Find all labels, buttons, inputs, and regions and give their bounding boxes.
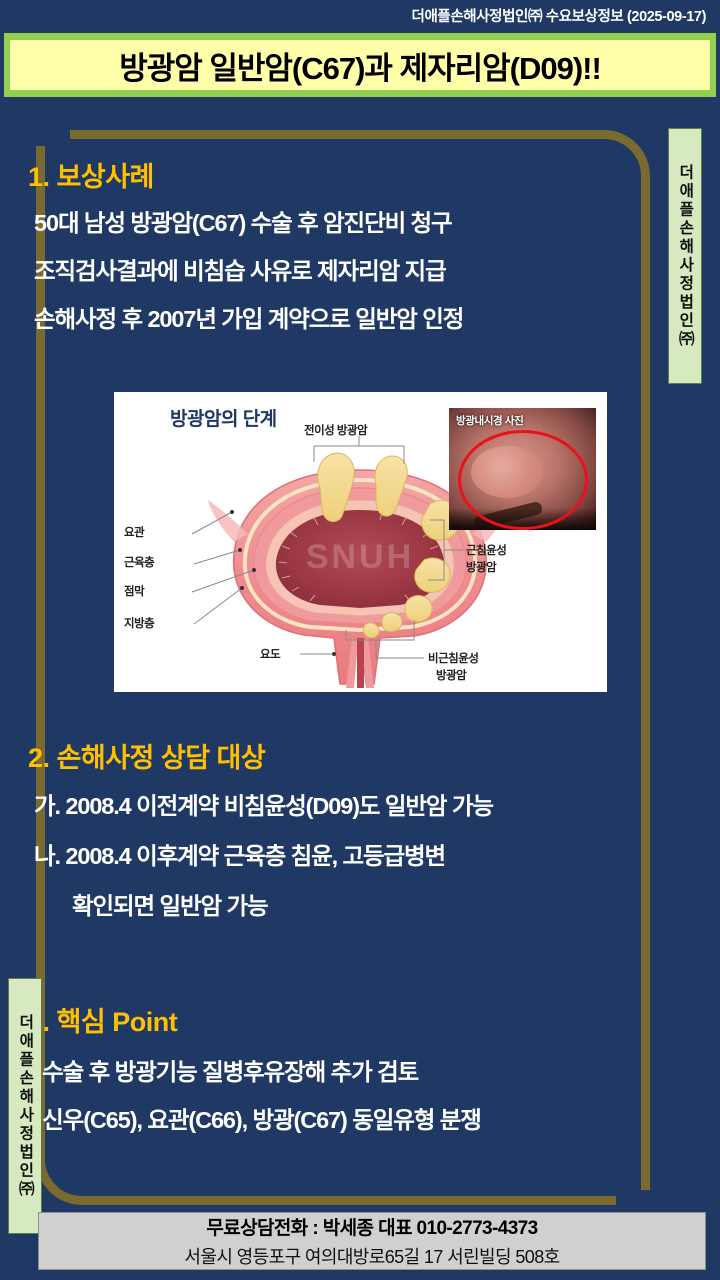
section-3-line-1: - 수술 후 방광기능 질병후유장해 추가 검토 [30, 1053, 720, 1087]
section-1-line-1: 50대 남성 방광암(C67) 수술 후 암진단비 청구 [34, 204, 660, 238]
section-1-line-3: 손해사정 후 2007년 가입 계약으로 일반암 인정 [34, 300, 660, 334]
frame-mask-bottom [616, 1190, 660, 1214]
side-tag-right-text: 더애플손해사정법인㈜ [677, 164, 693, 349]
footer-phone-line: 무료상담전화 : 박세종 대표 010-2773-4373 [206, 1213, 537, 1240]
figure-label-non-muscle-invasive-line1: 비근침윤성 [428, 650, 478, 666]
section-consultation-targets: 2. 손해사정 상담 대상 가. 2008.4 이전계약 비침윤성(D09)도 … [20, 736, 710, 937]
section-2-line-3: 확인되면 일반암 가능 [72, 887, 710, 921]
figure-label-fat-layer: 지방층 [124, 615, 154, 631]
cystoscopy-inset-label: 방광내시경 사진 [456, 413, 523, 428]
section-2-line-1: 가. 2008.4 이전계약 비침윤성(D09)도 일반암 가능 [34, 787, 710, 821]
contact-footer: 무료상담전화 : 박세종 대표 010-2773-4373 서울시 영등포구 여… [38, 1212, 706, 1270]
figure-label-ureter: 요관 [124, 524, 144, 540]
frame-mask-top [30, 124, 70, 146]
figure-label-metastatic: 전이성 방광암 [304, 422, 367, 438]
figure-label-muscle-invasive-line2: 방광암 [466, 559, 496, 575]
figure-label-muscle-invasive-line1: 근침윤성 [466, 542, 506, 558]
title-banner: 방광암 일반암(C67)과 제자리암(D09)!! [4, 33, 716, 97]
header-bar: 더애플손해사정법인㈜ 수요보상정보 (2025-09-17) [0, 0, 720, 30]
side-tag-right: 더애플손해사정법인㈜ [668, 128, 702, 384]
figure-label-urethra: 요도 [260, 646, 280, 662]
cystoscopy-inset-photo: 방광내시경 사진 [449, 408, 596, 530]
section-2-line-2: 나. 2008.4 이후계약 근육층 침윤, 고등급병변 [34, 837, 710, 871]
section-3-line-2: - 신우(C65), 요관(C66), 방광(C67) 동일유형 분쟁 [30, 1101, 720, 1135]
figure-label-non-muscle-invasive-line2: 방광암 [436, 667, 466, 683]
section-key-point: 3. 핵심 Point - 수술 후 방광기능 질병후유장해 추가 검토 - 신… [20, 1000, 720, 1149]
header-brand-text: 더애플손해사정법인㈜ 수요보상정보 (2025-09-17) [412, 5, 706, 26]
figure-label-mucosa: 점막 [124, 583, 144, 599]
side-tag-left-text: 더애플손해사정법인㈜ [17, 1014, 33, 1199]
figure-label-muscle-layer: 근육층 [124, 554, 154, 570]
page-title: 방광암 일반암(C67)과 제자리암(D09)!! [119, 43, 601, 88]
poster-root: 더애플손해사정법인㈜ 수요보상정보 (2025-09-17) 방광암 일반암(C… [0, 0, 720, 1280]
cystoscopy-highlight-ring [458, 430, 588, 530]
section-compensation-case: 1. 보상사례 50대 남성 방광암(C67) 수술 후 암진단비 청구 조직검… [20, 155, 660, 348]
section-3-heading: 3. 핵심 Point [28, 1000, 720, 1039]
section-2-heading: 2. 손해사정 상담 대상 [28, 736, 710, 775]
side-tag-left: 더애플손해사정법인㈜ [8, 978, 42, 1234]
section-1-heading: 1. 보상사례 [28, 155, 660, 194]
section-1-line-2: 조직검사결과에 비침습 사유로 제자리암 지급 [34, 252, 660, 286]
title-banner-inner: 방광암 일반암(C67)과 제자리암(D09)!! [10, 40, 710, 90]
bladder-cancer-stage-figure: 방광암의 단계 [114, 392, 607, 692]
footer-address-line: 서울시 영등포구 여의대방로65길 17 서린빌딩 508호 [184, 1243, 559, 1269]
svg-text:SNUH: SNUH [306, 538, 414, 576]
